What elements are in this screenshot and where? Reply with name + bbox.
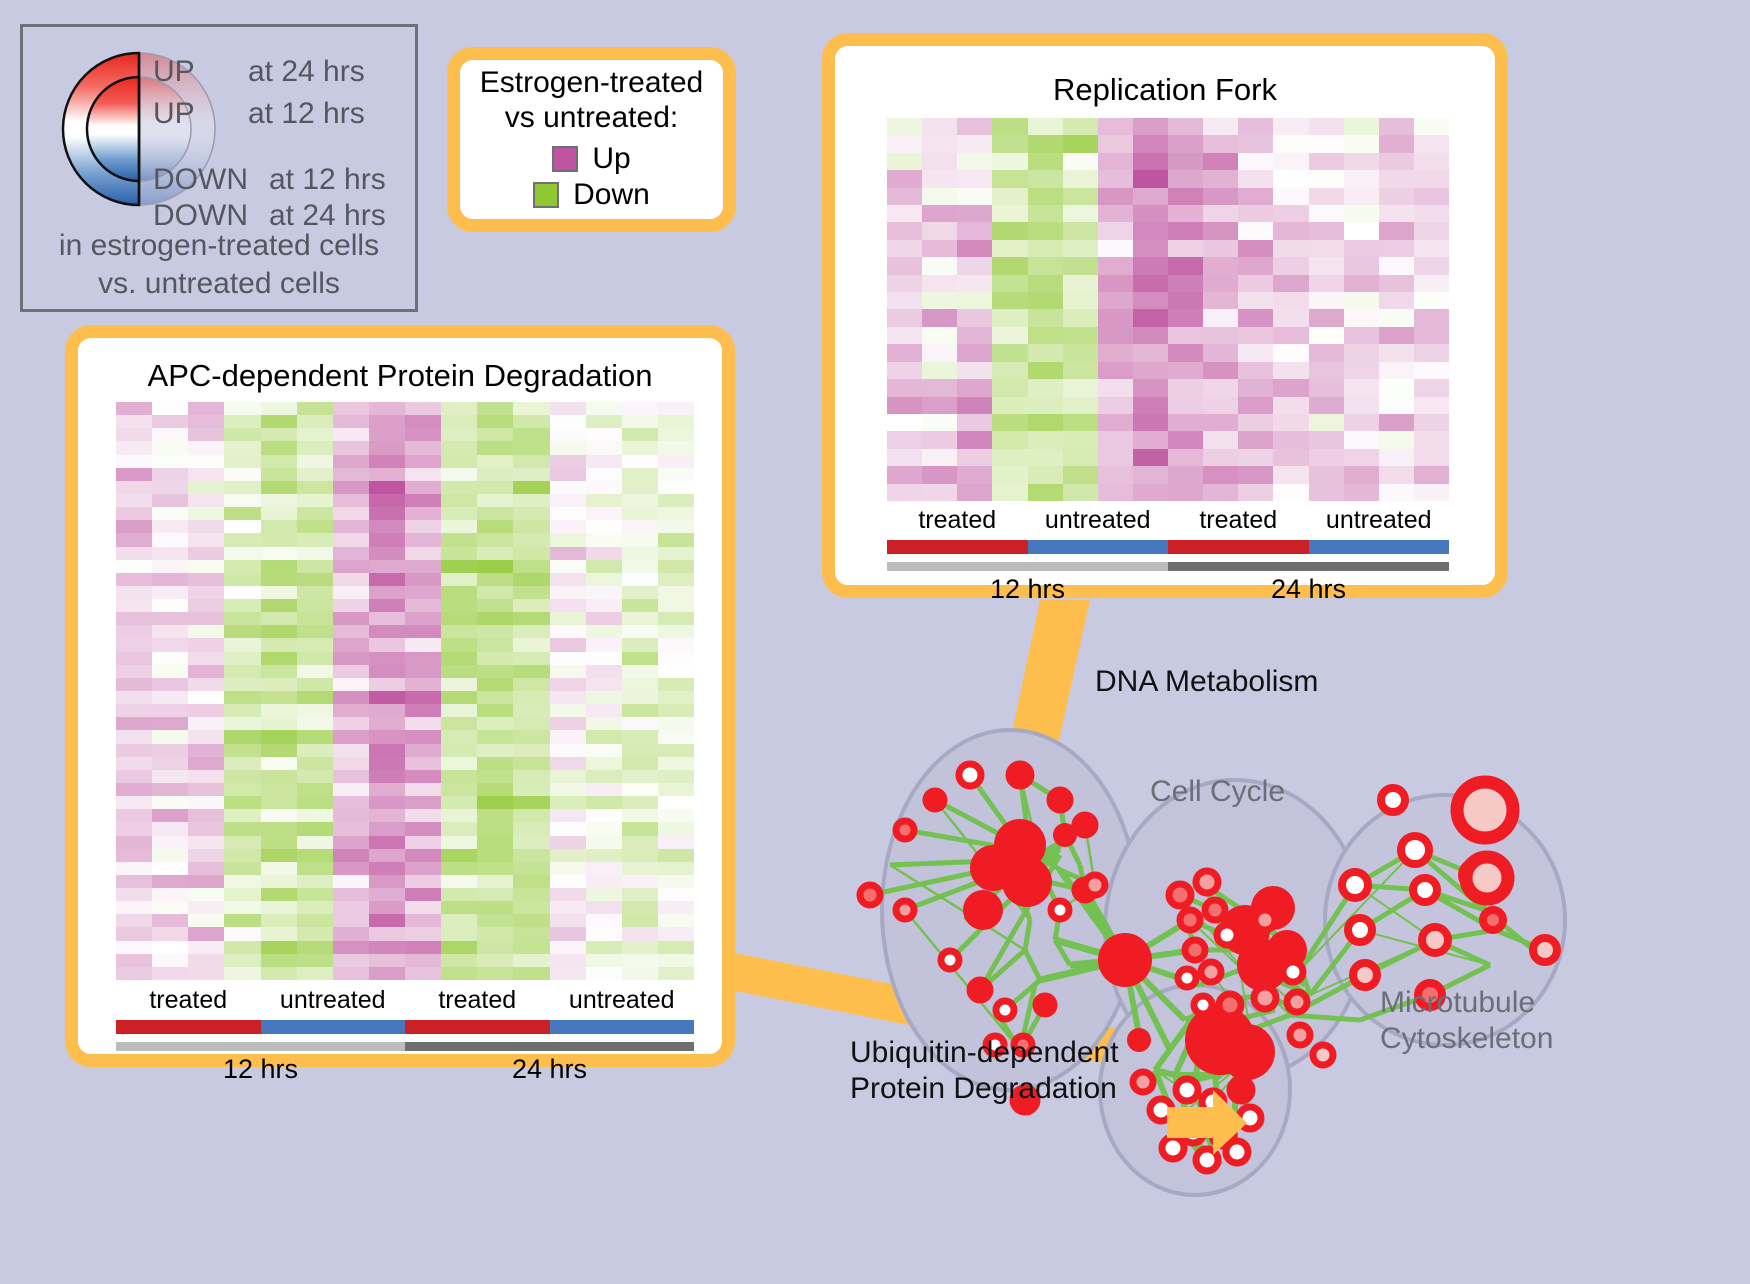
heatmap-cell — [957, 327, 992, 344]
heatmap-cell — [1028, 275, 1063, 292]
heatmap-cell — [622, 455, 658, 468]
heatmap-cell — [333, 599, 369, 612]
heatmap-cell — [261, 757, 297, 770]
ubiquitin-line-1: Ubiquitin-dependent — [850, 1035, 1119, 1071]
heatmap-cell — [224, 533, 260, 546]
heatmap-cell — [622, 757, 658, 770]
heatmap-cell — [887, 135, 922, 152]
heatmap-cell — [297, 520, 333, 533]
legend-label-up: Up — [592, 142, 630, 176]
heatmap-cell — [658, 691, 694, 704]
heatmap-cell — [1168, 257, 1203, 274]
heatmap-cell — [477, 652, 513, 665]
heatmap-cell — [477, 717, 513, 730]
heatmap-cell — [658, 730, 694, 743]
heatmap-cell — [550, 717, 586, 730]
heatmap-cell — [1309, 292, 1344, 309]
heatmap-cell — [224, 481, 260, 494]
heatmap-cell — [1309, 135, 1344, 152]
heatmap-cell — [152, 678, 188, 691]
heatmap-cell — [188, 757, 224, 770]
heatmap-cell — [1098, 484, 1133, 501]
heatmap-cell — [152, 507, 188, 520]
heatmap-cell — [369, 468, 405, 481]
heatmap-cell — [550, 888, 586, 901]
heatmap-cell — [1414, 449, 1449, 466]
heatmap-cell — [333, 744, 369, 757]
heatmap-cell — [369, 914, 405, 927]
heatmap-cell — [658, 678, 694, 691]
heatmap-cell — [1238, 379, 1273, 396]
heatmap-cell — [1168, 327, 1203, 344]
heatmap-cell — [1344, 153, 1379, 170]
heatmap-cell — [1309, 118, 1344, 135]
heatmap-cell — [369, 507, 405, 520]
heatmap-cell — [1133, 397, 1168, 414]
network-graph[interactable] — [795, 620, 1745, 1279]
heatmap-cell — [957, 188, 992, 205]
heatmap-cell — [297, 547, 333, 560]
heatmap-cell — [586, 862, 622, 875]
heatmap-cell — [152, 547, 188, 560]
heatmap-cell — [297, 599, 333, 612]
heatmap-cell — [1168, 135, 1203, 152]
heatmap-cell — [887, 309, 922, 326]
heatmap-cell — [333, 415, 369, 428]
legend-item-down: Down — [533, 178, 650, 212]
heatmap-cell — [477, 560, 513, 573]
heatmap-cell — [224, 612, 260, 625]
heatmap-cell — [261, 573, 297, 586]
heatmap-cell — [658, 547, 694, 560]
heatmap-cell — [261, 822, 297, 835]
heatmap-cell — [1273, 449, 1308, 466]
network-diagram[interactable]: DNA Metabolism Cell Cycle Microtubule Cy… — [795, 620, 1745, 1279]
heatmap-cell — [297, 849, 333, 862]
heatmap-cell — [1238, 292, 1273, 309]
heatmap-cell — [586, 888, 622, 901]
heatmap-cell — [1309, 275, 1344, 292]
heatmap-cell — [369, 717, 405, 730]
heatmap-cell — [1203, 153, 1238, 170]
heatmap-cell — [152, 652, 188, 665]
heatmap-cell — [622, 809, 658, 822]
cond-label-1: untreated — [1028, 506, 1169, 535]
heatmap-cell — [550, 428, 586, 441]
heatmap-cell — [116, 533, 152, 546]
heatmap-cell — [1309, 344, 1344, 361]
heatmap-cell — [957, 153, 992, 170]
heatmap-cell — [513, 796, 549, 809]
heatmap-cell — [1273, 205, 1308, 222]
heatmap-cell — [1063, 449, 1098, 466]
heatmap-cell — [1098, 257, 1133, 274]
heatmap-cell — [1309, 257, 1344, 274]
heatmap-cell — [887, 275, 922, 292]
heatmap-cell — [261, 849, 297, 862]
heatmap-cell — [1344, 431, 1379, 448]
heatmap-cell — [1063, 431, 1098, 448]
heatmap-cell — [116, 455, 152, 468]
heatmap-cell — [957, 309, 992, 326]
heatmap-cell — [1203, 275, 1238, 292]
heatmap-cell — [369, 783, 405, 796]
heatmap-cell — [441, 967, 477, 980]
heatmap-cell — [1063, 414, 1098, 431]
heatmap-cell — [152, 704, 188, 717]
heatmap-cell — [116, 744, 152, 757]
heatmap-cell — [261, 586, 297, 599]
heatmap-cell — [297, 415, 333, 428]
heatmap-cell — [1414, 292, 1449, 309]
time-bar-12 — [887, 562, 1168, 571]
heatmap-cell — [261, 455, 297, 468]
heatmap-cell — [224, 914, 260, 927]
heatmap-cell — [405, 954, 441, 967]
heatmap-cell — [1133, 153, 1168, 170]
heatmap-cell — [658, 481, 694, 494]
cond-bar-untreated-12 — [1028, 540, 1169, 554]
heatmap-cell — [333, 822, 369, 835]
heatmap-cell — [261, 428, 297, 441]
heatmap-cell — [369, 875, 405, 888]
heatmap-cell — [1238, 170, 1273, 187]
key-word-up-24: UP — [153, 55, 195, 89]
heatmap-cell — [261, 520, 297, 533]
heatmap-cell — [550, 455, 586, 468]
heatmap-cell — [224, 586, 260, 599]
heatmap-cell — [887, 362, 922, 379]
heatmap-cell — [550, 678, 586, 691]
heatmap-cell — [477, 507, 513, 520]
heatmap-cell — [1344, 379, 1379, 396]
heatmap-cell — [1098, 222, 1133, 239]
heatmap-cell — [658, 704, 694, 717]
heatmap-cell — [922, 466, 957, 483]
heatmap-cell — [405, 875, 441, 888]
heatmap-cell — [333, 547, 369, 560]
heatmap-cell — [369, 849, 405, 862]
heatmap-cell — [405, 744, 441, 757]
heatmap-cell — [405, 704, 441, 717]
panel-apc-degradation: APC-dependent Protein Degradation treate… — [65, 325, 735, 1067]
time-label-12: 12 hrs — [116, 1054, 405, 1085]
heatmap-cell — [1414, 188, 1449, 205]
heatmap-cell — [116, 730, 152, 743]
heatmap-cell — [1168, 118, 1203, 135]
heatmap-cell — [1028, 153, 1063, 170]
heatmap-cell — [297, 678, 333, 691]
heatmap-cell — [992, 379, 1027, 396]
heatmap-cell — [1098, 379, 1133, 396]
heatmap-cell — [333, 862, 369, 875]
heatmap-cell — [550, 494, 586, 507]
heatmap-cell — [622, 638, 658, 651]
heatmap-cell — [513, 547, 549, 560]
heatmap-cell — [550, 744, 586, 757]
heatmap-cell — [550, 770, 586, 783]
heatmap-cell — [1203, 170, 1238, 187]
heatmap-cell — [441, 730, 477, 743]
heatmap-cell — [1203, 257, 1238, 274]
heatmap-cell — [441, 901, 477, 914]
heatmap-cell — [369, 638, 405, 651]
heatmap-cell — [261, 652, 297, 665]
heatmap-cell — [297, 914, 333, 927]
heatmap-cell — [1168, 397, 1203, 414]
heatmap-cell — [513, 468, 549, 481]
heatmap-cell — [297, 665, 333, 678]
heatmap-cell — [188, 901, 224, 914]
cluster-label-ubiquitin-degradation: Ubiquitin-dependent Protein Degradation — [850, 1035, 1119, 1107]
heatmap-cell — [369, 901, 405, 914]
heatmap-cell — [405, 730, 441, 743]
heatmap-cell — [188, 481, 224, 494]
heatmap-cell — [1133, 484, 1168, 501]
heatmap-cell — [1273, 135, 1308, 152]
heatmap-cell — [550, 441, 586, 454]
heatmap-cell — [1344, 344, 1379, 361]
heatmap-cell — [1414, 118, 1449, 135]
heatmap-cell — [658, 573, 694, 586]
heatmap-cell — [116, 625, 152, 638]
key-time-up-12: at 12 hrs — [248, 97, 365, 131]
heatmap-cell — [622, 901, 658, 914]
heatmap-cell — [1133, 240, 1168, 257]
heatmap-cell — [188, 612, 224, 625]
heatmap-cell — [1379, 344, 1414, 361]
heatmap-cell — [369, 862, 405, 875]
heatmap-cell — [369, 428, 405, 441]
heatmap-cell — [1344, 449, 1379, 466]
heatmap-cell — [1309, 188, 1344, 205]
heatmap-cell — [1379, 309, 1414, 326]
heatmap-cell — [116, 967, 152, 980]
heatmap-cell — [441, 914, 477, 927]
heatmap-cell — [297, 783, 333, 796]
heatmap-cell — [622, 533, 658, 546]
heatmap-cell — [586, 441, 622, 454]
heatmap-cell — [261, 783, 297, 796]
heatmap-cell — [224, 520, 260, 533]
heatmap-cell — [1203, 327, 1238, 344]
heatmap-cell — [297, 757, 333, 770]
heatmap-cell — [922, 379, 957, 396]
heatmap-cell — [441, 599, 477, 612]
heatmap-cell — [1203, 240, 1238, 257]
heatmap-cell — [550, 730, 586, 743]
heatmap-cell — [992, 153, 1027, 170]
heatmap-cell — [116, 586, 152, 599]
heatmap-cell — [586, 547, 622, 560]
heatmap-cell — [992, 327, 1027, 344]
heatmap-cell — [992, 362, 1027, 379]
heatmap-cell — [1344, 327, 1379, 344]
heatmap-cell — [658, 717, 694, 730]
heatmap-cell — [1344, 188, 1379, 205]
heatmap-cell — [188, 507, 224, 520]
heatmap-cell — [550, 967, 586, 980]
cluster-label-microtubule-cytoskeleton: Microtubule Cytoskeleton — [1380, 985, 1553, 1057]
heatmap-cell — [297, 954, 333, 967]
heatmap-cell — [622, 822, 658, 835]
heatmap-cell — [116, 402, 152, 415]
heatmap-cell — [550, 796, 586, 809]
heatmap-cell — [261, 665, 297, 678]
heatmap-cell — [1203, 309, 1238, 326]
heatmap-cell — [1168, 205, 1203, 222]
heatmap-cell — [224, 625, 260, 638]
heatmap-cell — [1273, 397, 1308, 414]
heatmap-cell — [586, 494, 622, 507]
heatmap-cell — [550, 822, 586, 835]
heatmap-cell — [1028, 135, 1063, 152]
heatmap-cell — [957, 170, 992, 187]
heatmap-cell — [369, 402, 405, 415]
heatmap-cell — [477, 730, 513, 743]
heatmap-cell — [513, 862, 549, 875]
heatmap-cell — [188, 862, 224, 875]
heatmap-cell — [1379, 397, 1414, 414]
heatmap-cell — [1344, 257, 1379, 274]
heatmap-cell — [1028, 222, 1063, 239]
key-word-down-12: DOWN — [153, 163, 248, 197]
heatmap-cell — [550, 599, 586, 612]
heatmap-cell — [261, 533, 297, 546]
heatmap-cell — [1098, 466, 1133, 483]
heatmap-cell — [622, 665, 658, 678]
heatmap-cell — [586, 586, 622, 599]
heatmap-cell — [586, 652, 622, 665]
heatmap-cell — [116, 638, 152, 651]
heatmap-cell — [1238, 414, 1273, 431]
heatmap-cell — [586, 757, 622, 770]
heatmap-cell — [405, 441, 441, 454]
heatmap-cell — [369, 836, 405, 849]
heatmap-cell — [116, 888, 152, 901]
heatmap-cell — [1098, 362, 1133, 379]
heatmap-cell — [297, 967, 333, 980]
heatmap-cell — [922, 257, 957, 274]
heatmap-cell — [1133, 414, 1168, 431]
heatmap-cell — [333, 783, 369, 796]
heatmap-cell — [513, 494, 549, 507]
heatmap-cell — [405, 822, 441, 835]
heatmap-cell — [1273, 292, 1308, 309]
heatmap-cell — [622, 678, 658, 691]
heatmap-cell — [369, 560, 405, 573]
heatmap-cell — [333, 481, 369, 494]
heatmap-cell — [513, 901, 549, 914]
heatmap-cell — [1273, 327, 1308, 344]
heatmap-cell — [622, 652, 658, 665]
heatmap-cell — [405, 652, 441, 665]
heatmap-cell — [405, 717, 441, 730]
heatmap-cell — [441, 941, 477, 954]
heatmap-cell — [369, 704, 405, 717]
heatmap-cell — [405, 888, 441, 901]
heatmap-cell — [224, 547, 260, 560]
heatmap-cell — [513, 927, 549, 940]
heatmap-cell — [405, 967, 441, 980]
heatmap-cell — [658, 809, 694, 822]
heatmap-cell — [333, 428, 369, 441]
heatmap-cell — [405, 757, 441, 770]
time-label-24: 24 hrs — [405, 1054, 694, 1085]
time-label-24: 24 hrs — [1168, 574, 1449, 605]
heatmap-cell — [622, 849, 658, 862]
panel-replication-fork: Replication Fork treated untreated treat… — [822, 33, 1508, 598]
heatmap-cell — [1379, 466, 1414, 483]
heatmap-cell — [1273, 153, 1308, 170]
heatmap-cell — [622, 547, 658, 560]
heatmap-cell — [261, 954, 297, 967]
heatmap-cell — [152, 862, 188, 875]
heatmap-cell — [586, 520, 622, 533]
heatmap-cell — [152, 901, 188, 914]
heatmap-cell — [513, 836, 549, 849]
heatmap-cell — [1168, 153, 1203, 170]
heatmap-cell — [405, 428, 441, 441]
heatmap-cell — [369, 770, 405, 783]
heatmap-cell — [116, 415, 152, 428]
heatmap-cell — [405, 691, 441, 704]
heatmap-cell — [152, 441, 188, 454]
heatmap-cell — [441, 717, 477, 730]
heatmap-cell — [441, 547, 477, 560]
heatmap-cell — [405, 901, 441, 914]
heatmap-cell — [1273, 240, 1308, 257]
heatmap-cell — [1309, 170, 1344, 187]
heatmap-cell — [333, 941, 369, 954]
heatmap-cell — [297, 809, 333, 822]
heatmap-cell — [116, 507, 152, 520]
heatmap-cell — [513, 809, 549, 822]
heatmap-cell — [622, 796, 658, 809]
heatmap-cell — [477, 625, 513, 638]
heatmap-cell — [152, 809, 188, 822]
heatmap-cell — [1063, 397, 1098, 414]
heatmap-cell — [513, 455, 549, 468]
heatmap-cell — [550, 665, 586, 678]
heatmap-cell — [152, 586, 188, 599]
cond-label-0: treated — [887, 506, 1028, 535]
cond-bar-untreated-12 — [261, 1020, 406, 1034]
heatmap-cell — [1168, 449, 1203, 466]
heatmap-cell — [333, 901, 369, 914]
heatmap-cell — [922, 344, 957, 361]
heatmap-cell — [550, 941, 586, 954]
heatmap-cell — [441, 875, 477, 888]
heatmap-cell — [1238, 466, 1273, 483]
heatmap-cell — [658, 468, 694, 481]
heatmap-cell — [477, 612, 513, 625]
heatmap-cell — [333, 455, 369, 468]
heatmap-cell — [1379, 188, 1414, 205]
heatmap-cell — [224, 507, 260, 520]
heatmap-cell — [1379, 484, 1414, 501]
heatmap-cell — [441, 520, 477, 533]
heatmap-cell — [586, 927, 622, 940]
heatmap-cell — [188, 888, 224, 901]
heatmap-cell — [441, 586, 477, 599]
heatmap-cell — [477, 783, 513, 796]
heatmap-cell — [658, 822, 694, 835]
heatmap-cell — [1203, 379, 1238, 396]
heatmap-cell — [513, 638, 549, 651]
heatmap-cell — [1028, 309, 1063, 326]
heatmap-cell — [116, 704, 152, 717]
